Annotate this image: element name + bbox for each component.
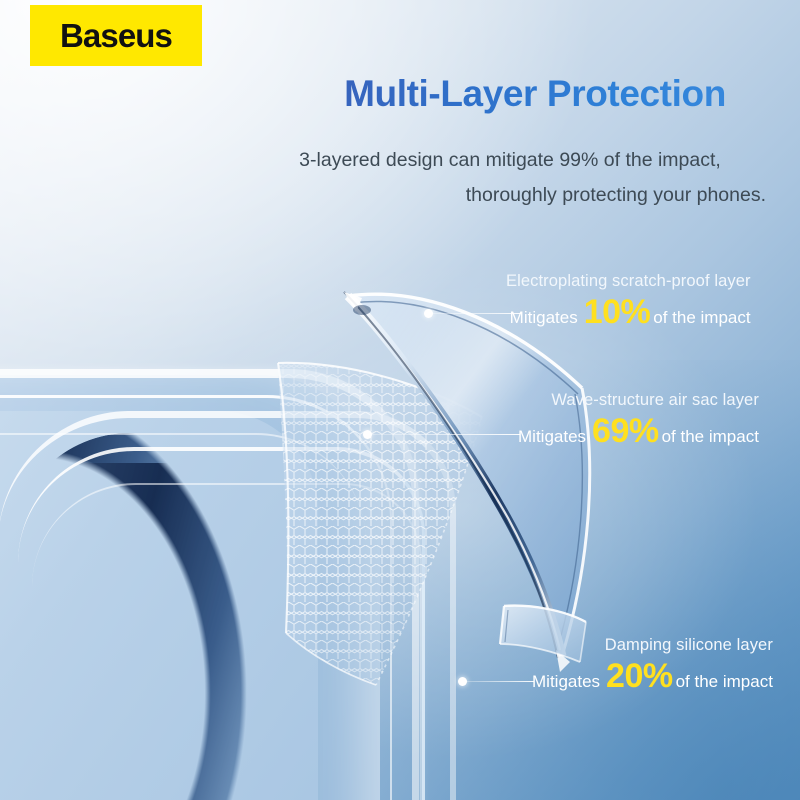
callout-mitigate-row: Mitigates 20% of the impact (532, 659, 773, 693)
callout-layer-name: Wave-structure air sac layer (518, 391, 759, 410)
callout-mitigate-row: Mitigates 69% of the impact (518, 414, 759, 448)
subtitle-line-1: 3-layered design can mitigate 99% of the… (250, 143, 770, 178)
callout-mitigate-label: Mitigates (532, 672, 600, 692)
callout-percentage: 69% (592, 414, 659, 448)
callout-percentage: 10% (584, 295, 651, 329)
leader-dot-air-sac (363, 430, 372, 439)
poster-canvas: Baseus Multi-Layer Protection 3-layered … (0, 0, 800, 800)
callout-mitigate-label: Mitigates (510, 308, 578, 328)
callout-mitigate-tail: of the impact (653, 308, 750, 328)
callout-mitigate-label: Mitigates (518, 427, 586, 447)
callout-air-sac: Wave-structure air sac layer Mitigates 6… (518, 391, 759, 448)
page-subtitle: 3-layered design can mitigate 99% of the… (250, 143, 770, 214)
logo-text: Baseus (60, 19, 172, 52)
callout-layer-name: Electroplating scratch-proof layer (506, 272, 751, 291)
baseus-logo: Baseus (30, 5, 202, 66)
callout-mitigate-row: Mitigates 10% of the impact (506, 295, 751, 329)
callout-mitigate-tail: of the impact (662, 427, 759, 447)
leader-dot-electroplating (424, 309, 433, 318)
subtitle-line-2: thoroughly protecting your phones. (250, 178, 770, 213)
callout-layer-name: Damping silicone layer (532, 636, 773, 655)
callout-silicone: Damping silicone layer Mitigates 20% of … (532, 636, 773, 693)
callout-percentage: 20% (606, 659, 673, 693)
page-title: Multi-Layer Protection (300, 74, 770, 115)
callout-electroplating: Electroplating scratch-proof layer Mitig… (506, 272, 751, 329)
callout-mitigate-tail: of the impact (676, 672, 773, 692)
leader-dot-silicone (458, 677, 467, 686)
